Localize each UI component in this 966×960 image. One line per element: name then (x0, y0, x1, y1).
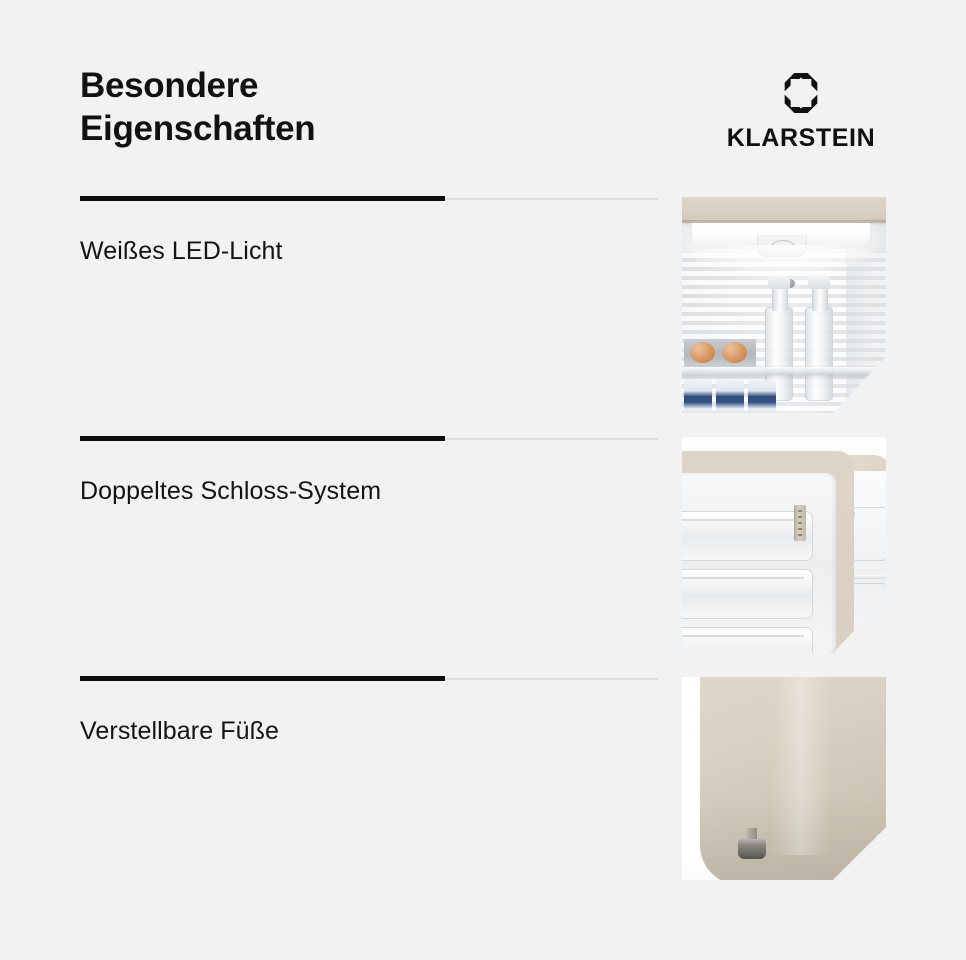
door-inner-liner (682, 473, 836, 653)
feature-divider (80, 436, 658, 441)
page-title: Besondere Eigenschaften (80, 64, 315, 150)
beverage-can (716, 380, 744, 413)
led-light-cap (757, 235, 807, 257)
body-shading (700, 795, 886, 880)
feature-list: Weißes LED-Licht (0, 190, 966, 910)
feature-label: Doppeltes Schloss-System (80, 475, 381, 507)
bottle-neck (812, 286, 828, 311)
feature-image-led-light (682, 197, 886, 413)
feature-highlights-page: Besondere Eigenschaften KLARSTEIN Weißes… (0, 0, 966, 960)
bottle-cap (768, 276, 790, 289)
egg (690, 342, 715, 363)
feature-divider (80, 196, 658, 201)
feature-divider (80, 676, 658, 681)
fridge-door-double-lock-photo (682, 437, 886, 653)
brand-wordmark: KLARSTEIN (727, 125, 875, 152)
egg (722, 342, 747, 363)
feature-label: Verstellbare Füße (80, 715, 279, 747)
beverage-can (748, 380, 776, 413)
divider-light-segment (445, 198, 658, 200)
page-header: Besondere Eigenschaften KLARSTEIN (80, 64, 886, 174)
side-wall (846, 243, 886, 413)
fridge-lower-body (700, 677, 886, 880)
divider-light-segment (445, 438, 658, 440)
divider-dark-segment (80, 436, 445, 441)
feature-row: Verstellbare Füße (0, 670, 966, 910)
divider-dark-segment (80, 196, 445, 201)
adjustable-foot (738, 837, 766, 859)
bottle-cap (808, 276, 830, 289)
fridge-interior-led-light-photo (682, 197, 886, 413)
feature-image-double-lock (682, 437, 886, 653)
door-bin (682, 569, 813, 619)
door-hinge (794, 505, 806, 541)
feature-label: Weißes LED-Licht (80, 235, 283, 267)
feature-row: Weißes LED-Licht (0, 190, 966, 430)
divider-dark-segment (80, 676, 445, 681)
klarstein-octagon-mark-icon (778, 70, 824, 116)
beverage-can (684, 380, 712, 413)
glass-shelf (682, 367, 886, 375)
door-bin (682, 627, 813, 653)
bottle-neck (772, 286, 788, 311)
brand-logo: KLARSTEIN (716, 70, 886, 152)
feature-row: Doppeltes Schloss-System (0, 430, 966, 670)
feature-image-adjustable-feet (682, 677, 886, 880)
fridge-door-panel (682, 451, 854, 653)
cabinet-top-beige (682, 197, 886, 223)
glass-bottle (805, 307, 833, 401)
adjustable-foot-photo (682, 677, 886, 880)
divider-light-segment (445, 678, 658, 680)
